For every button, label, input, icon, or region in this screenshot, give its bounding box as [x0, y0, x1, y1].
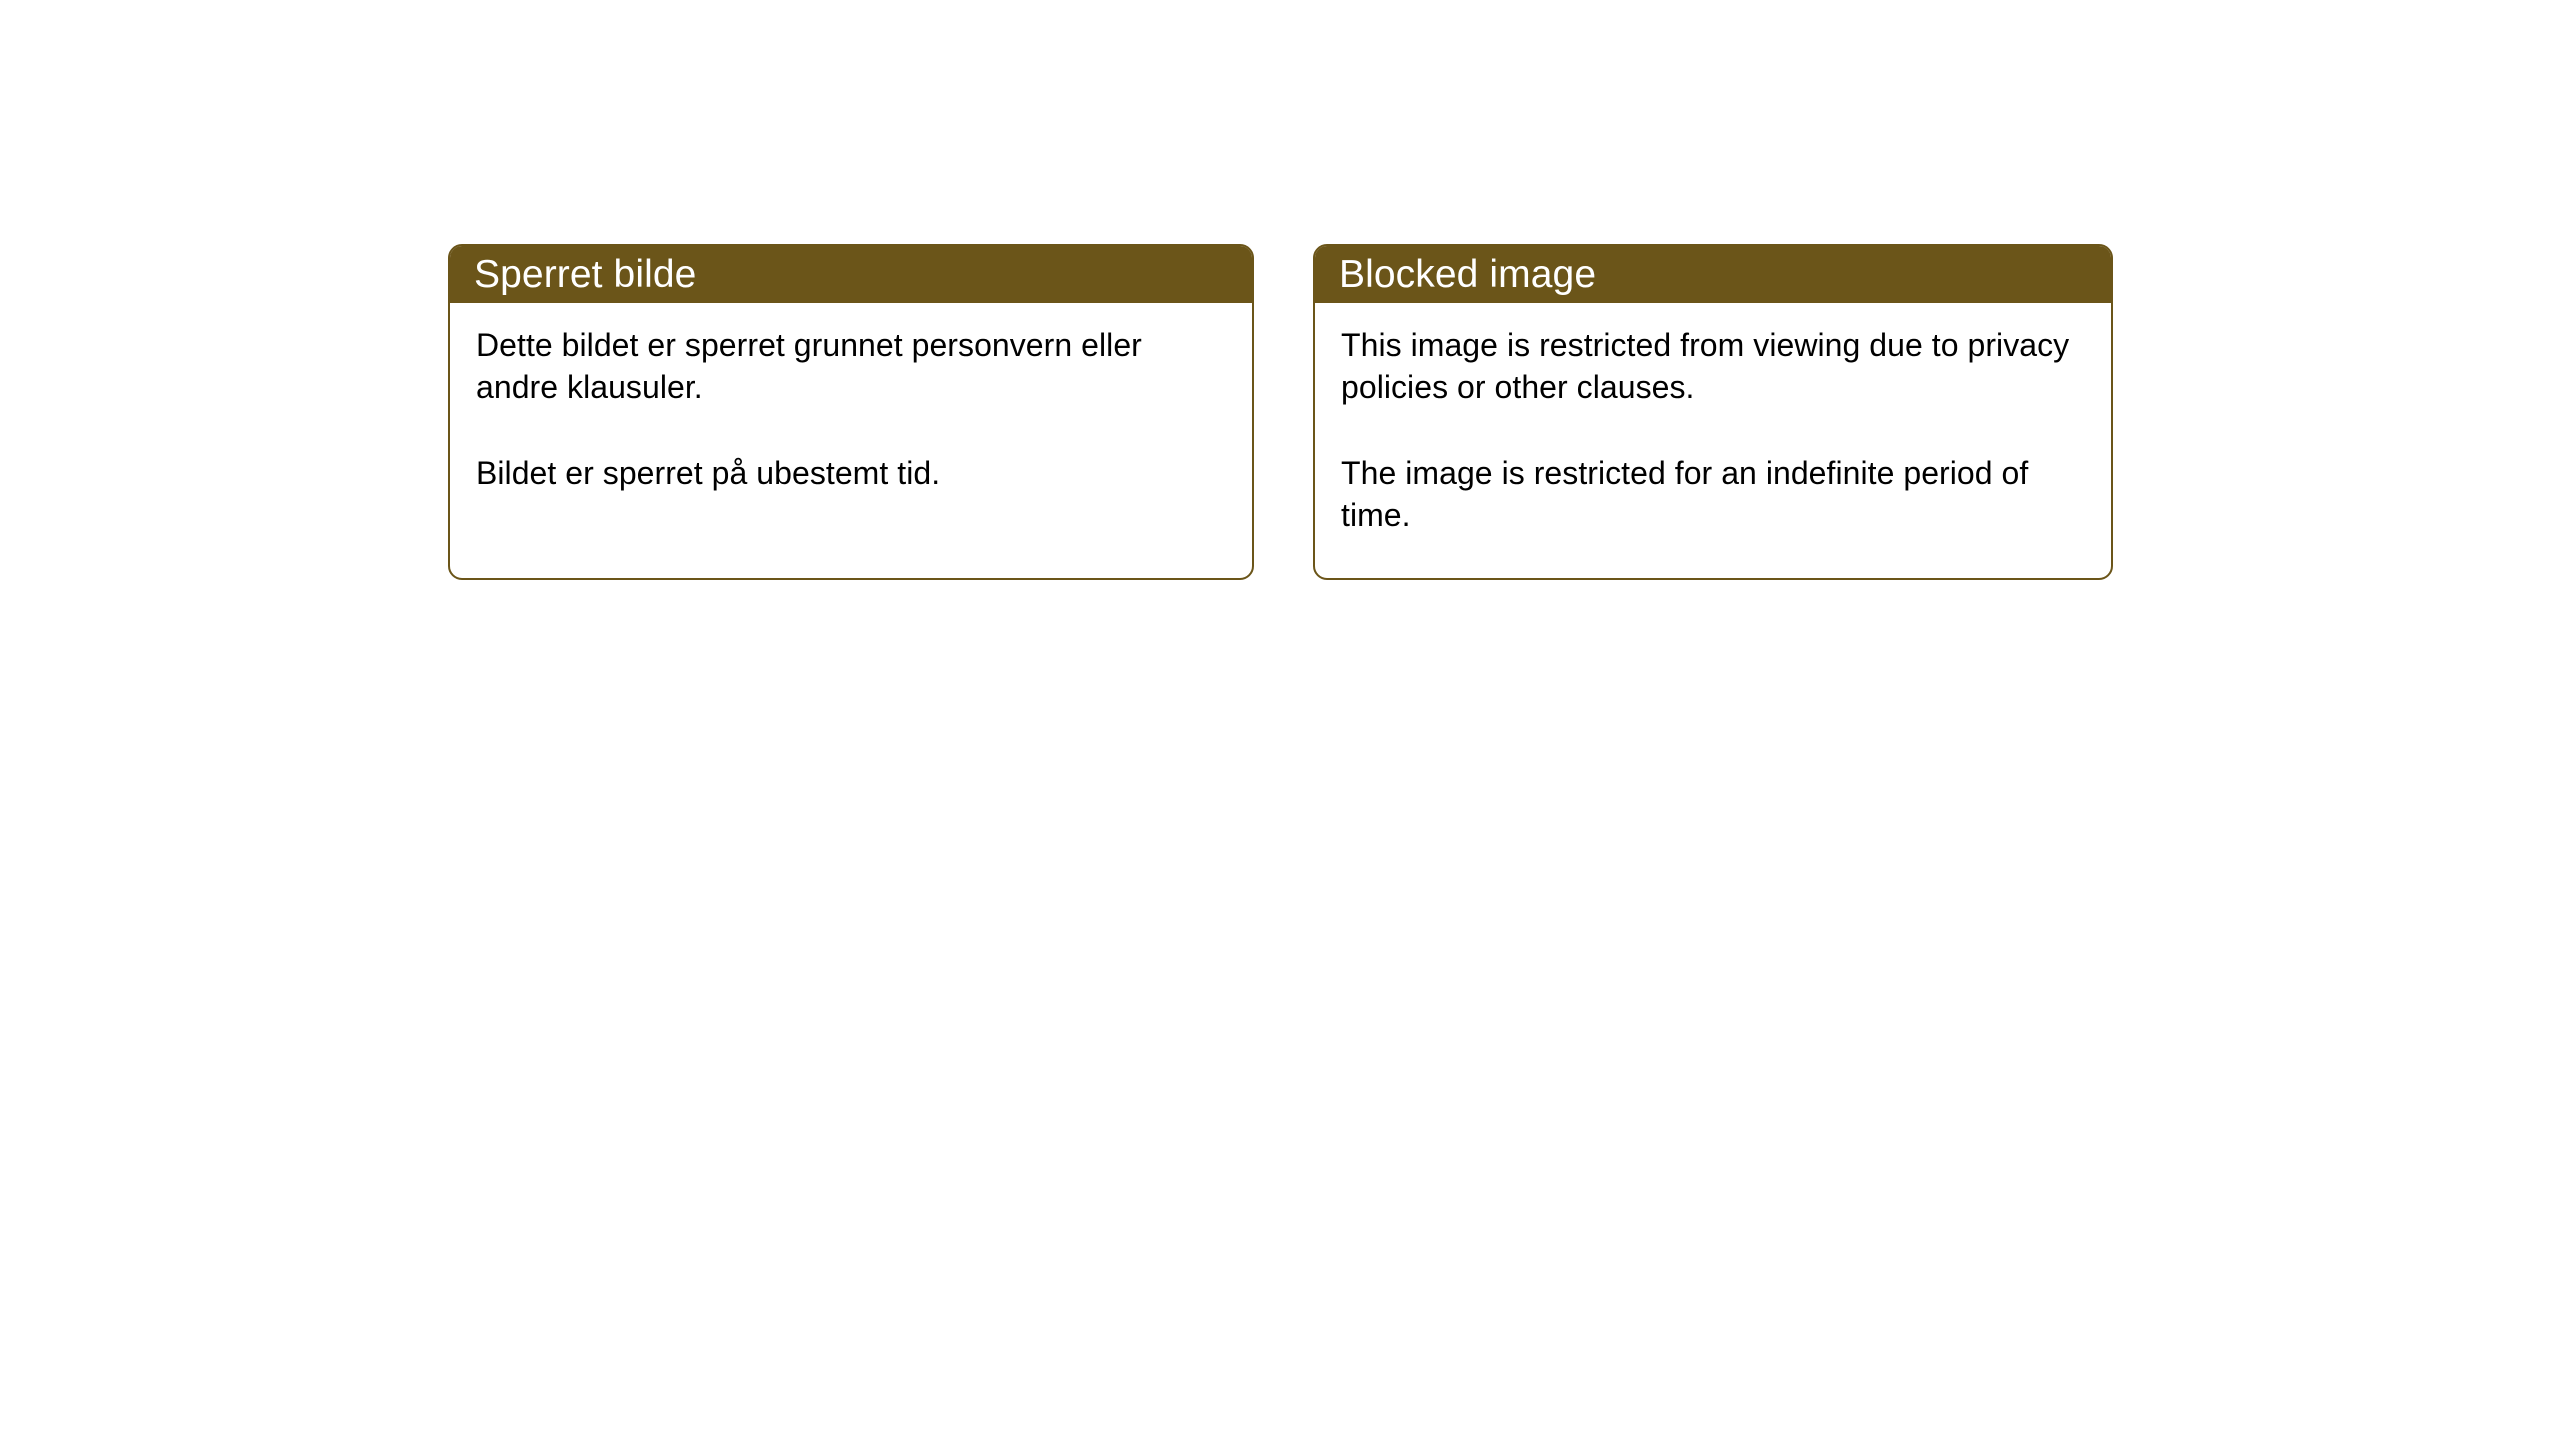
blocked-image-notice-card-no: Sperret bilde Dette bildet er sperret gr… — [448, 244, 1254, 580]
card-body-no: Dette bildet er sperret grunnet personve… — [450, 303, 1252, 495]
card-header-no: Sperret bilde — [450, 246, 1252, 303]
card-paragraph-duration-en: The image is restricted for an indefinit… — [1341, 453, 2085, 536]
card-paragraph-reason-no: Dette bildet er sperret grunnet personve… — [476, 325, 1226, 408]
card-header-en: Blocked image — [1315, 246, 2111, 303]
card-body-en: This image is restricted from viewing du… — [1315, 303, 2111, 536]
card-title-no: Sperret bilde — [474, 255, 696, 294]
blocked-image-notice-card-en: Blocked image This image is restricted f… — [1313, 244, 2113, 580]
card-paragraph-reason-en: This image is restricted from viewing du… — [1341, 325, 2085, 408]
card-paragraph-duration-no: Bildet er sperret på ubestemt tid. — [476, 453, 1226, 495]
page-root: Sperret bilde Dette bildet er sperret gr… — [0, 0, 2560, 1440]
card-title-en: Blocked image — [1339, 255, 1596, 294]
